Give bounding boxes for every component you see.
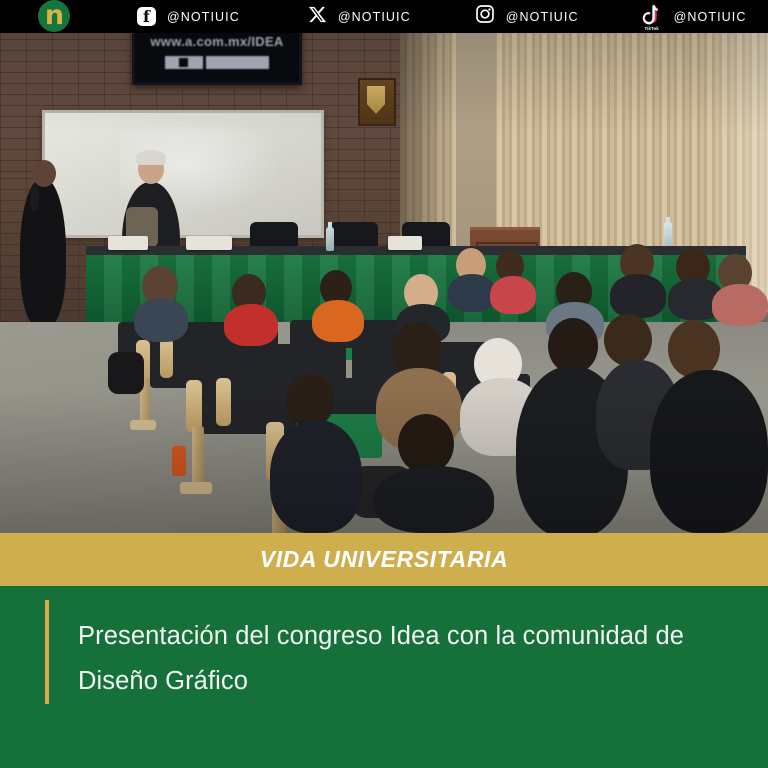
stage-chair: [250, 222, 298, 248]
audience-body: [224, 304, 278, 346]
seat-arm: [186, 380, 202, 432]
facebook-icon: [137, 7, 156, 26]
category-banner: VIDA UNIVERSITARIA: [0, 533, 768, 586]
projector-screen-subtext: [165, 56, 269, 69]
headline-accent-bar: [45, 600, 49, 704]
audience-body: [650, 370, 768, 533]
presenter-woman-head: [32, 160, 56, 187]
audience-body: [270, 420, 362, 533]
presenter-woman-hair: [30, 185, 39, 211]
table-paper: [186, 236, 232, 250]
backpack: [108, 352, 144, 394]
water-bottle: [326, 227, 334, 251]
audience-body: [610, 274, 666, 318]
seat-arm: [160, 338, 173, 378]
notiuic-mark-letter: n: [38, 0, 70, 32]
seat-foot: [180, 482, 212, 494]
tiktok-icon: TikTok: [641, 4, 663, 30]
event-photo: www.a.com.mx/IDEA: [0, 22, 768, 533]
social-post-card: www.a.com.mx/IDEA: [0, 0, 768, 768]
water-bottle: [664, 222, 672, 246]
social-item-facebook[interactable]: @NOTIUIC: [137, 7, 240, 26]
audience-body: [490, 276, 536, 314]
x-handle: @NOTIUIC: [338, 10, 411, 24]
audience-body: [374, 466, 494, 533]
presenter-man-hair: [136, 150, 166, 165]
table-paper: [108, 236, 148, 250]
tiktok-handle: @NOTIUIC: [674, 10, 747, 24]
projector-screen-text: www.a.com.mx/IDEA: [141, 34, 293, 49]
audience-head: [604, 314, 652, 366]
wall-crest-plaque: [358, 78, 396, 126]
stage-chair: [330, 222, 378, 248]
orange-bag: [172, 446, 186, 476]
table-paper: [388, 236, 422, 250]
presenter-woman: [20, 178, 66, 328]
headline-text: Presentación del congreso Idea con la co…: [78, 614, 738, 704]
audience-head: [398, 414, 454, 474]
seat-foot: [130, 420, 156, 430]
audience-body: [134, 298, 188, 342]
headline-block: Presentación del congreso Idea con la co…: [0, 586, 768, 768]
audience-body: [712, 284, 768, 326]
social-item-x[interactable]: @NOTIUIC: [308, 5, 411, 29]
audience-body: [448, 274, 496, 312]
seat-leg: [192, 426, 204, 486]
seat-arm: [216, 378, 231, 426]
audience-body: [312, 300, 364, 342]
category-label: VIDA UNIVERSITARIA: [260, 546, 508, 573]
instagram-handle: @NOTIUIC: [506, 10, 579, 24]
notiuic-mark[interactable]: n: [38, 1, 72, 32]
social-item-tiktok[interactable]: TikTok @NOTIUIC: [641, 4, 747, 30]
instagram-icon: [475, 4, 495, 29]
social-item-instagram[interactable]: @NOTIUIC: [475, 4, 579, 29]
x-twitter-icon: [308, 5, 327, 29]
tiktok-wordmark: TikTok: [639, 26, 665, 31]
social-handles-bar: n @NOTIUIC @NOTIUIC @NOTIUIC: [0, 0, 768, 33]
facebook-handle: @NOTIUIC: [167, 10, 240, 24]
